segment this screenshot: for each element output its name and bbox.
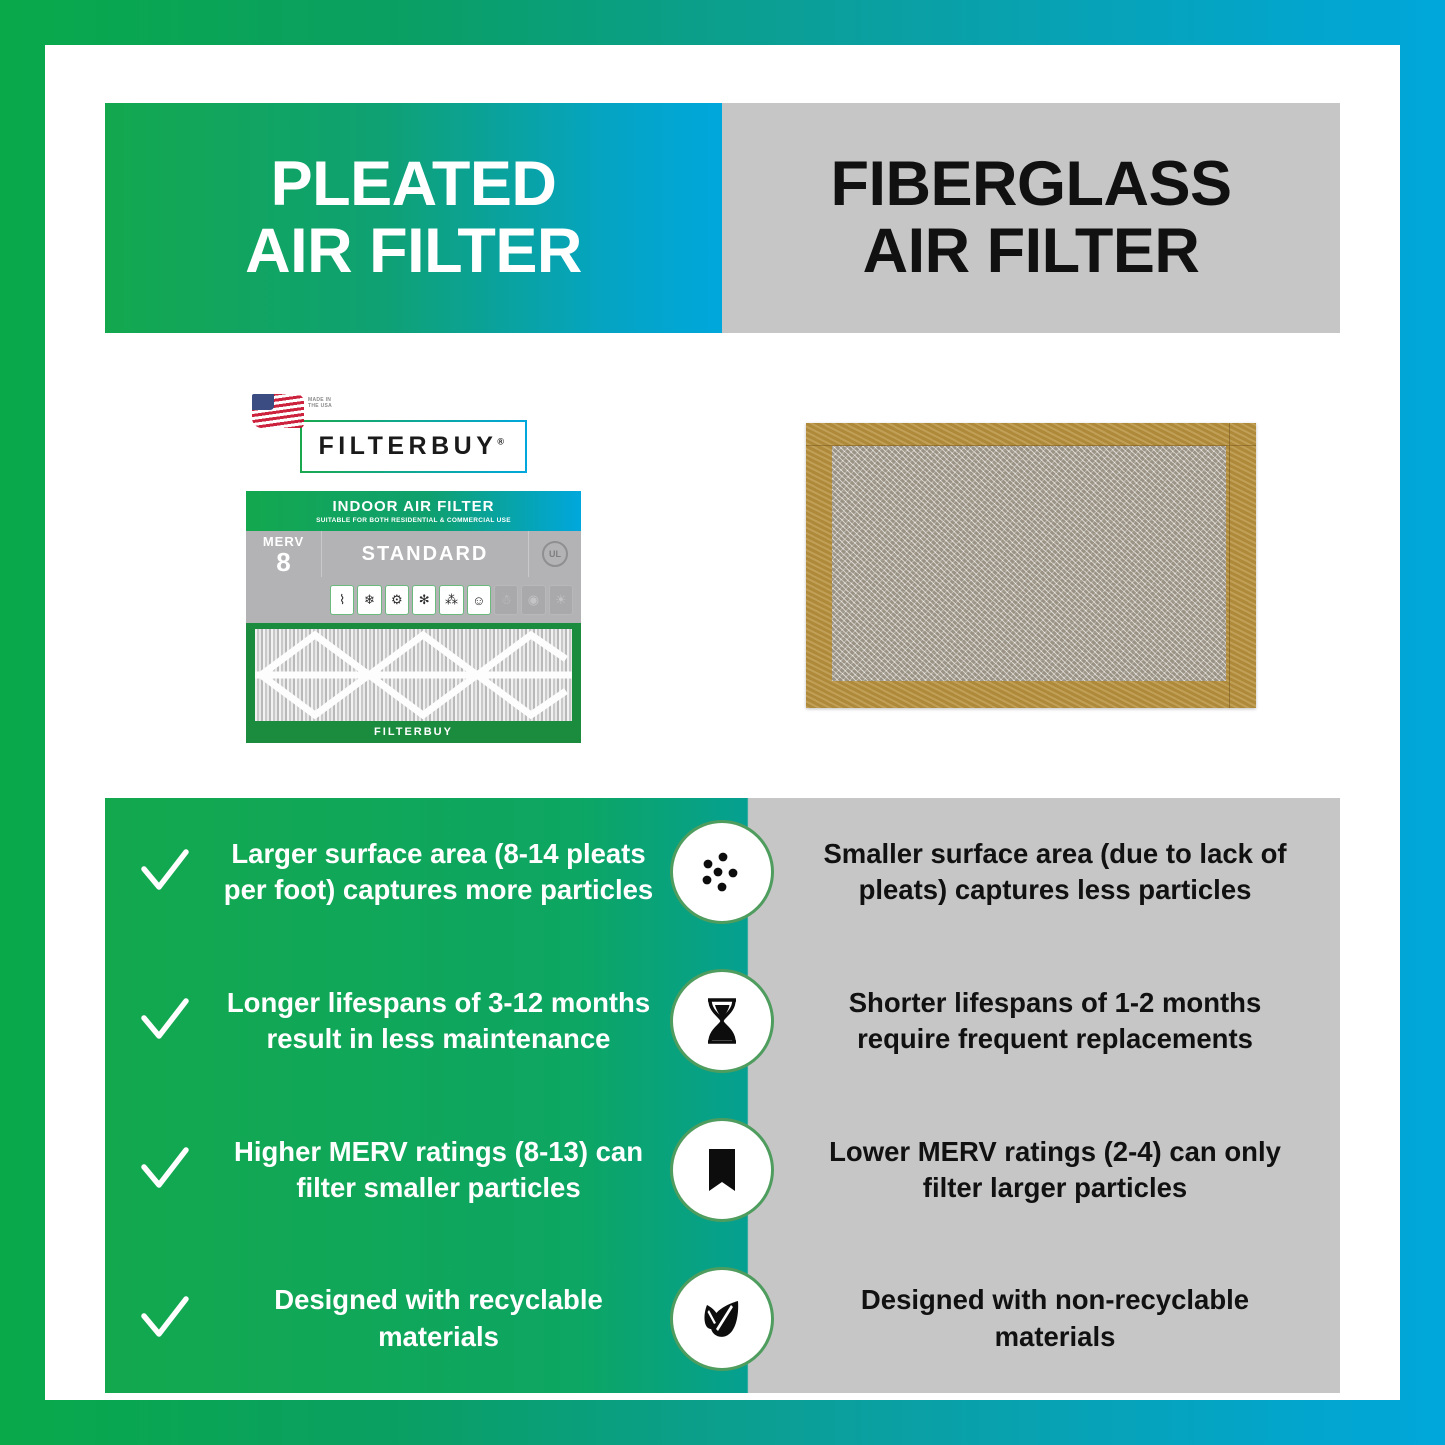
package-filter-media-area: FILTERBUY [246, 623, 581, 743]
package-band-subtitle: SUITABLE FOR BOTH RESIDENTIAL & COMMERCI… [316, 517, 511, 524]
fiberglass-filter-photo [806, 423, 1256, 708]
comparison-row: Larger surface area (8-14 pleats per foo… [105, 798, 1340, 947]
package-certification-area: UL [529, 531, 581, 577]
checkmark-icon [139, 846, 191, 898]
package-band-title: INDOOR AIR FILTER [333, 498, 495, 515]
package-spec-area: MERV 8 STANDARD UL ⌇❄⚙✻⁂☺☃◉☀ [246, 531, 581, 623]
comparison-left-cell: Higher MERV ratings (8-13) can filter sm… [105, 1134, 722, 1207]
comparison-row: Longer lifespans of 3-12 months result i… [105, 947, 1340, 1096]
fiberglass-drawback-text: Shorter lifespans of 1-2 months require … [722, 985, 1340, 1058]
pleated-benefit-text: Higher MERV ratings (8-13) can filter sm… [213, 1134, 664, 1207]
infographic-canvas: PLEATED AIR FILTER FIBERGLASS AIR FILTER [45, 45, 1400, 1400]
comparison-row: Designed with recyclable materialsDesign… [105, 1244, 1340, 1393]
merv-capability-tile-4: ✻ [412, 585, 436, 615]
comparison-left-cell: Larger surface area (8-14 pleats per foo… [105, 836, 722, 909]
frame-corner-seam [1229, 423, 1230, 708]
pleated-benefit-text: Larger surface area (8-14 pleats per foo… [213, 836, 664, 909]
pleated-product-cell: MADE IN THE USA FILTERBUY® INDOOR AIR FI… [105, 333, 722, 798]
header-pleated-line2: AIR FILTER [245, 218, 582, 285]
header-fiberglass-title: FIBERGLASS AIR FILTER [830, 151, 1231, 286]
particles-icon [670, 820, 774, 924]
fiberglass-drawback-text: Smaller surface area (due to lack of ple… [722, 836, 1340, 909]
merv-capability-tile-2: ❄ [357, 585, 381, 615]
pleated-benefit-text: Designed with recyclable materials [213, 1282, 664, 1355]
comparison-feature-icon [670, 1118, 774, 1222]
comparison-feature-icon [670, 969, 774, 1073]
package-product-band: INDOOR AIR FILTER SUITABLE FOR BOTH RESI… [246, 491, 581, 531]
header-fiberglass-line2: AIR FILTER [830, 218, 1231, 285]
leaf-icon [670, 1267, 774, 1371]
checkmark-icon [139, 995, 191, 1047]
header-pleated-title: PLEATED AIR FILTER [245, 151, 582, 286]
fiberglass-drawback-text: Designed with non-recyclable materials [722, 1282, 1340, 1355]
header-fiberglass-air-filter: FIBERGLASS AIR FILTER [722, 103, 1340, 333]
header-fiberglass-line1: FIBERGLASS [830, 151, 1231, 218]
comparison-feature-icon [670, 820, 774, 924]
comparison-left-cell: Longer lifespans of 3-12 months result i… [105, 985, 722, 1058]
comparison-panel: Larger surface area (8-14 pleats per foo… [105, 798, 1340, 1393]
comparison-left-cell: Designed with recyclable materials [105, 1282, 722, 1355]
merv-capability-tile-8: ◉ [521, 585, 545, 615]
merv-capability-tile-1: ⌇ [330, 585, 354, 615]
package-header-area: MADE IN THE USA FILTERBUY® [246, 388, 581, 491]
product-images-row: MADE IN THE USA FILTERBUY® INDOOR AIR FI… [105, 333, 1340, 798]
fiberglass-drawback-text: Lower MERV ratings (2-4) can only filter… [722, 1134, 1340, 1207]
merv-capability-tile-9: ☀ [549, 585, 573, 615]
merv-capability-tile-6: ☺ [467, 585, 491, 615]
merv-capability-tile-5: ⁂ [439, 585, 463, 615]
package-spec-top-row: MERV 8 STANDARD UL [246, 531, 581, 577]
comparison-feature-icon [670, 1267, 774, 1371]
ul-certification-icon: UL [542, 541, 568, 567]
package-merv-block: MERV 8 [246, 531, 322, 577]
brand-logo-box: FILTERBUY® [300, 420, 526, 473]
header-pleated-air-filter: PLEATED AIR FILTER [105, 103, 722, 333]
header-row: PLEATED AIR FILTER FIBERGLASS AIR FILTER [105, 103, 1340, 333]
header-pleated-line1: PLEATED [245, 151, 582, 218]
checkmark-icon [139, 1144, 191, 1196]
made-in-usa-label: MADE IN THE USA [308, 397, 332, 410]
package-capability-icons: ⌇❄⚙✻⁂☺☃◉☀ [326, 577, 577, 623]
usa-flag-icon [252, 394, 304, 428]
brand-logo-text: FILTERBUY® [318, 432, 508, 461]
pleated-filter-package-image: MADE IN THE USA FILTERBUY® INDOOR AIR FI… [246, 388, 581, 743]
comparison-row: Higher MERV ratings (8-13) can filter sm… [105, 1096, 1340, 1245]
filter-support-grid-icon [255, 629, 572, 721]
merv-capability-tile-3: ⚙ [385, 585, 409, 615]
package-grade-label: STANDARD [322, 531, 529, 577]
bookmark-icon [670, 1118, 774, 1222]
pleated-benefit-text: Longer lifespans of 3-12 months result i… [213, 985, 664, 1058]
package-merv-value: 8 [276, 549, 290, 575]
pleated-media-texture [255, 629, 572, 721]
checkmark-icon [139, 1293, 191, 1345]
hourglass-icon [670, 969, 774, 1073]
infographic-frame: PLEATED AIR FILTER FIBERGLASS AIR FILTER [0, 0, 1445, 1445]
merv-capability-tile-7: ☃ [494, 585, 518, 615]
fiberglass-product-cell [722, 333, 1339, 798]
fiberglass-mesh-texture [832, 446, 1226, 681]
package-footer-brand: FILTERBUY [255, 721, 572, 743]
